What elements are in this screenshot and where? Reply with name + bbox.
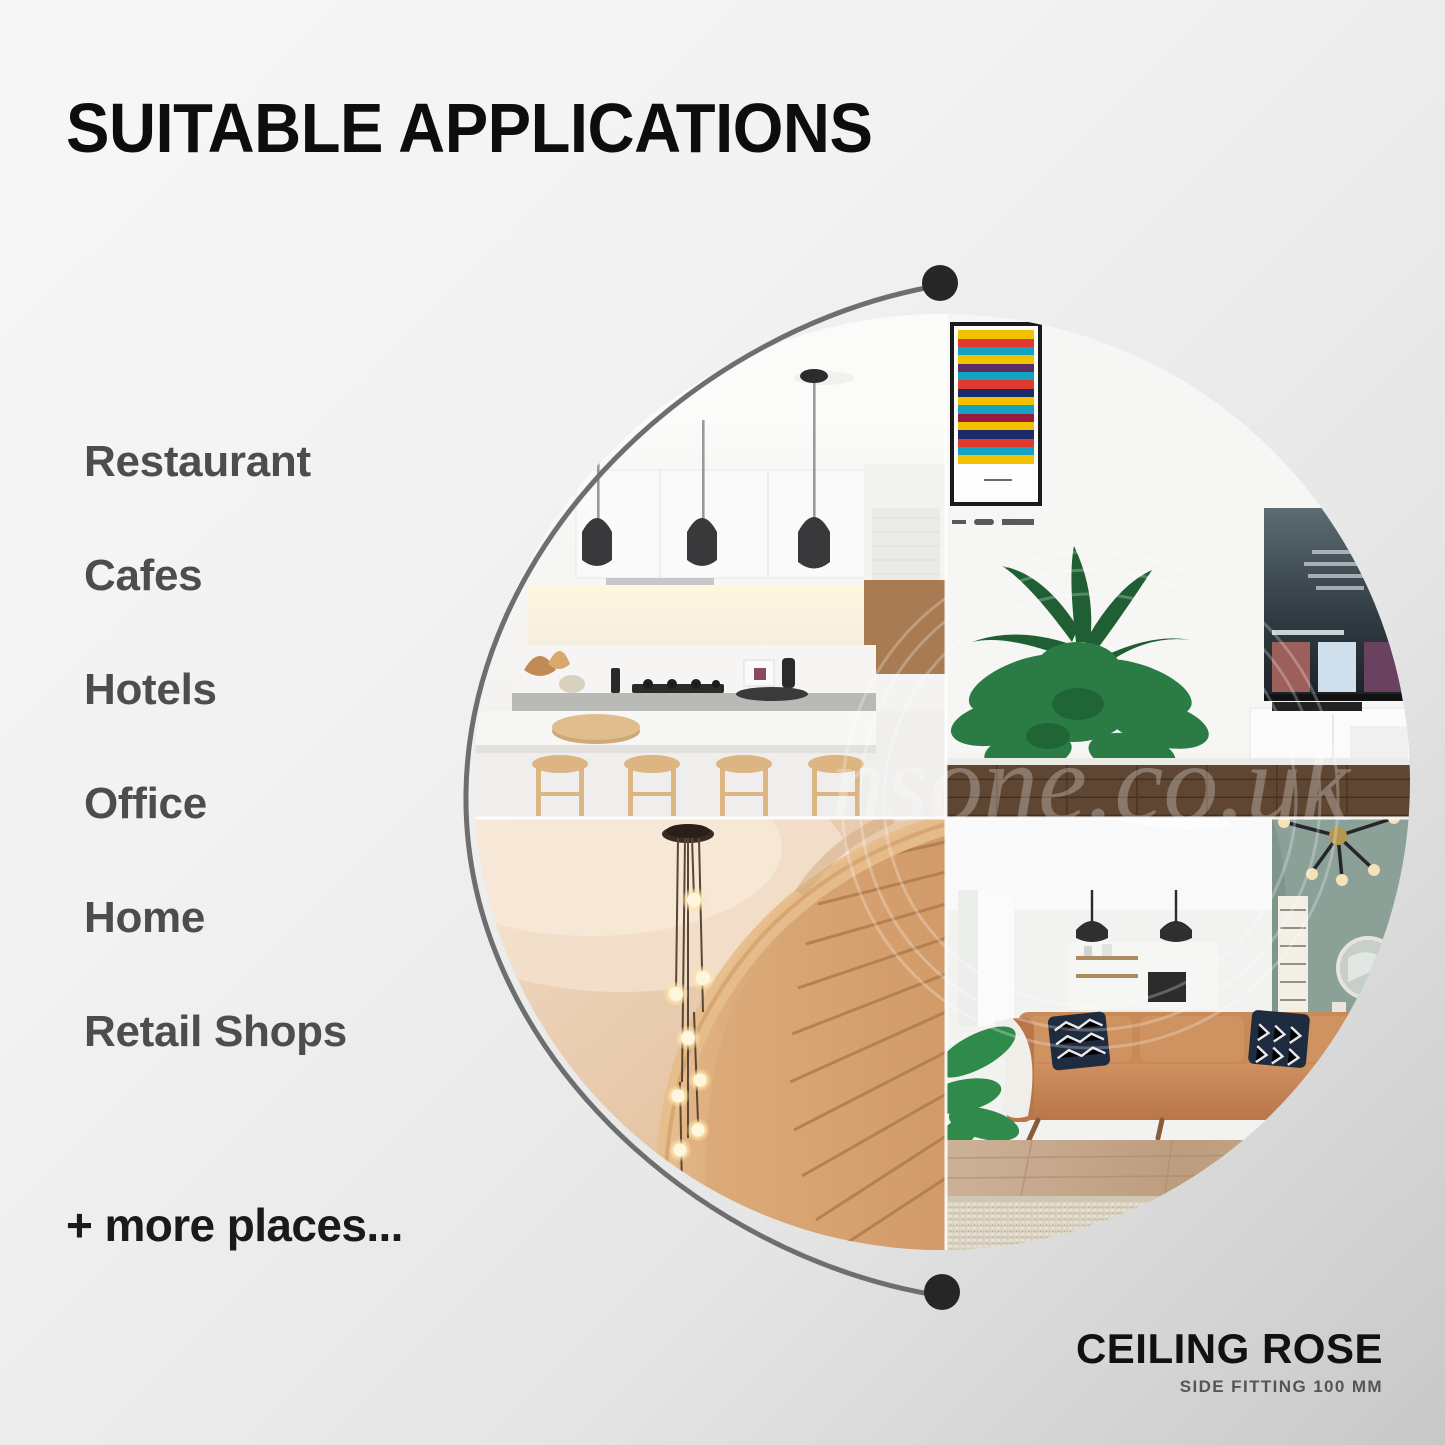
framed-artwork [952, 324, 1040, 504]
arc-endpoint-dot-top [922, 265, 958, 301]
arc-endpoint-dot-bottom [924, 1274, 960, 1310]
brand-block: CEILING ROSE SIDE FITTING 100 MM [1076, 1327, 1383, 1397]
more-places-label: + more places... [66, 1198, 403, 1252]
collage-quadrant-lounge [919, 812, 1412, 1252]
brand-name: CEILING ROSE [1076, 1327, 1383, 1371]
application-item-retail-shops: Retail Shops [84, 1010, 504, 1054]
application-item-restaurant: Restaurant [84, 440, 504, 484]
applications-list: Restaurant Cafes Hotels Office Home Reta… [84, 440, 504, 1124]
collage-quadrant-living-room-tv [946, 312, 1412, 818]
brand-subtitle: SIDE FITTING 100 MM [1076, 1377, 1383, 1397]
application-item-office: Office [84, 782, 504, 826]
fiddle-leaf-plant [1353, 989, 1412, 1057]
page-title: SUITABLE APPLICATIONS [66, 88, 872, 168]
application-item-hotels: Hotels [84, 668, 504, 712]
photo-collage [472, 312, 1412, 1252]
wall-television [1264, 508, 1412, 701]
collage-quadrant-kitchen [472, 312, 946, 818]
application-item-cafes: Cafes [84, 554, 504, 598]
application-item-home: Home [84, 896, 504, 940]
collage-quadrant-staircase [472, 752, 946, 1252]
